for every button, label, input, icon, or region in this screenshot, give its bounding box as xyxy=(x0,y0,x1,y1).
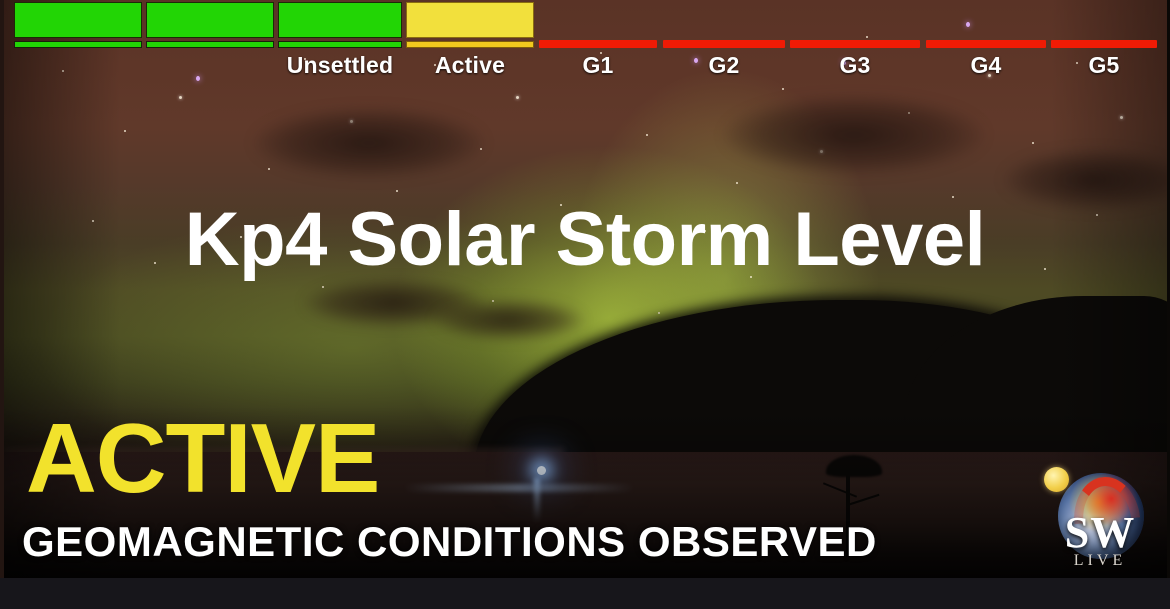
scale-label-unsettled: Unsettled xyxy=(278,52,402,79)
scale-strip-quiet-1 xyxy=(14,41,142,48)
cloud-smudge xyxy=(254,108,484,178)
logo-wordmark: LIVE xyxy=(1040,553,1160,569)
scale-segment-active[interactable] xyxy=(406,2,534,38)
spaceweatherlive-logo[interactable]: SW LIVE xyxy=(1040,455,1160,575)
scale-strip-g5[interactable] xyxy=(1051,40,1157,48)
status-subtitle: GEOMAGNETIC CONDITIONS OBSERVED xyxy=(22,518,877,566)
scale-label-g5: G5 xyxy=(1051,52,1157,79)
light-trail-on-water xyxy=(404,484,634,492)
bottom-letterbox-bar xyxy=(0,578,1170,609)
cloud-smudge xyxy=(434,300,584,340)
scale-strip-quiet-2 xyxy=(146,41,274,48)
scale-strip-g1[interactable] xyxy=(539,40,657,48)
light-reflection xyxy=(534,478,540,522)
scale-label-g1: G1 xyxy=(539,52,657,79)
scale-label-g2: G2 xyxy=(663,52,785,79)
scale-label-g4: G4 xyxy=(926,52,1046,79)
cloud-smudge xyxy=(724,96,984,174)
scale-strip-g2[interactable] xyxy=(663,40,785,48)
bright-light-point xyxy=(537,466,546,475)
scale-segment-quiet-2[interactable] xyxy=(146,2,274,38)
kp-scale-bar: Unsettled Active G1 G2 G3 G4 G5 xyxy=(0,0,1170,88)
scale-segment-unsettled[interactable] xyxy=(278,2,402,38)
scale-strip-g3[interactable] xyxy=(790,40,920,48)
sun-icon xyxy=(1044,467,1069,492)
solar-storm-graphic: Unsettled Active G1 G2 G3 G4 G5 Kp4 Sola… xyxy=(0,0,1170,609)
scale-label-active: Active xyxy=(406,52,534,79)
scale-strip-active xyxy=(406,41,534,48)
logo-mark: SW xyxy=(1040,511,1160,555)
scale-strip-g4[interactable] xyxy=(926,40,1046,48)
headline-title: Kp4 Solar Storm Level xyxy=(0,196,1170,284)
status-word: ACTIVE xyxy=(26,406,379,510)
scale-strip-unsettled xyxy=(278,41,402,48)
scale-segment-quiet-1[interactable] xyxy=(14,2,142,38)
scale-label-g3: G3 xyxy=(790,52,920,79)
